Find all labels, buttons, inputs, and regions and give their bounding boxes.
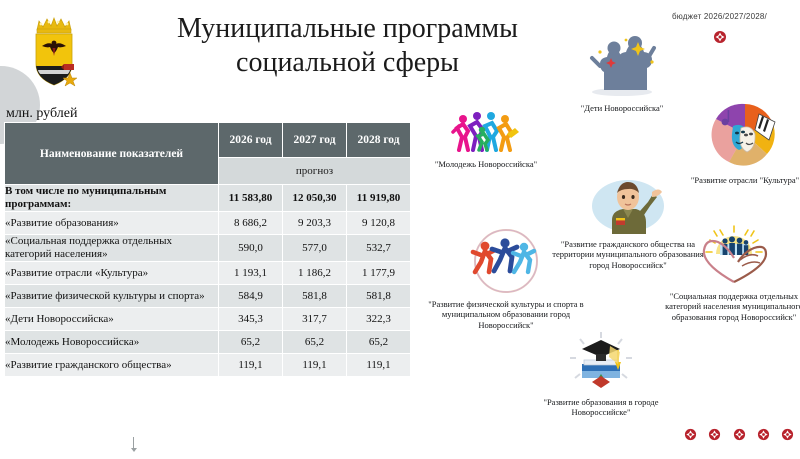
- programs-table: Наименование показателей 2026 год 2027 г…: [4, 122, 410, 377]
- col-header-2026: 2026 год: [219, 123, 283, 158]
- table-row: «Развитие образования»8 686,29 203,39 12…: [5, 212, 411, 235]
- forecast-label: прогноз: [219, 158, 411, 185]
- table-header-row: Наименование показателей 2026 год 2027 г…: [5, 123, 411, 158]
- row-value: 65,2: [283, 331, 347, 354]
- slide-canvas: Муниципальные программы социальной сферы…: [0, 0, 800, 459]
- rosette-icon: [708, 428, 721, 446]
- units-label: млн. рублей: [6, 106, 77, 122]
- info-item-youth: "Молодежь Новороссийска": [434, 104, 538, 169]
- row-value: 8 686,2: [219, 212, 283, 235]
- row-value: 577,0: [283, 235, 347, 262]
- row-label: «Развитие физической культуры и спорта»: [5, 285, 219, 308]
- row-value: 65,2: [219, 331, 283, 354]
- slide-title: Муниципальные программы социальной сферы: [120, 12, 575, 80]
- info-caption-social-support: "Социальная поддержка отдельных категори…: [660, 291, 800, 323]
- row-label: В том числе по муниципальным программам:: [5, 185, 219, 212]
- table-row: «Молодежь Новороссийска»65,265,265,2: [5, 331, 411, 354]
- row-value: 532,7: [347, 235, 411, 262]
- row-label: «Молодежь Новороссийска»: [5, 331, 219, 354]
- row-value: 11 919,80: [347, 185, 411, 212]
- children-silhouettes-icon: [548, 36, 696, 101]
- row-label: «Развитие гражданского общества»: [5, 354, 219, 377]
- table-row: «Развитие физической культуры и спорта»5…: [5, 285, 411, 308]
- row-value: 9 203,3: [283, 212, 347, 235]
- rosette-icon: [781, 428, 794, 446]
- rosette-decoration-row: [684, 428, 794, 446]
- rosette-icon: [713, 30, 727, 49]
- dancing-people-icon: [434, 104, 538, 157]
- row-value: 119,1: [347, 354, 411, 377]
- col-header-name: Наименование показателей: [5, 123, 219, 185]
- coat-of-arms-icon: [25, 12, 83, 92]
- rosette-icon: [684, 428, 697, 446]
- row-label: «Социальная поддержка отдельных категори…: [5, 235, 219, 262]
- running-people-icon: [426, 228, 586, 297]
- row-value: 65,2: [347, 331, 411, 354]
- info-item-education: "Развитие образования в городе Новоросси…: [532, 330, 670, 418]
- row-value: 317,7: [283, 308, 347, 331]
- rosette-icon: [733, 428, 746, 446]
- heart-hands-family-icon: [660, 222, 800, 289]
- col-header-2028: 2028 год: [347, 123, 411, 158]
- info-caption-youth: "Молодежь Новороссийска": [434, 159, 538, 170]
- row-value: 581,8: [347, 285, 411, 308]
- row-value: 119,1: [283, 354, 347, 377]
- row-value: 1 186,2: [283, 262, 347, 285]
- title-line-1: Муниципальные программы: [120, 12, 575, 46]
- table-row: «Социальная поддержка отдельных категори…: [5, 235, 411, 262]
- row-value: 1 177,9: [347, 262, 411, 285]
- culture-masks-icon: [690, 102, 800, 173]
- row-value: 590,0: [219, 235, 283, 262]
- table-row: «Развитие отрасли «Культура»1 193,11 186…: [5, 262, 411, 285]
- row-label: «Дети Новороссийска»: [5, 308, 219, 331]
- graduation-books-icon: [532, 330, 670, 395]
- row-label: «Развитие образования»: [5, 212, 219, 235]
- rosette-icon: [757, 428, 770, 446]
- row-value: 9 120,8: [347, 212, 411, 235]
- row-value: 584,9: [219, 285, 283, 308]
- table-row: «Дети Новороссийска»345,3317,7322,3: [5, 308, 411, 331]
- info-item-culture: "Развитие отрасли "Культура": [690, 102, 800, 185]
- info-caption-education: "Развитие образования в городе Новоросси…: [532, 397, 670, 418]
- table-body: В том числе по муниципальным программам:…: [5, 185, 411, 377]
- row-value: 322,3: [347, 308, 411, 331]
- table-row: В том числе по муниципальным программам:…: [5, 185, 411, 212]
- col-header-2027: 2027 год: [283, 123, 347, 158]
- row-value: 1 193,1: [219, 262, 283, 285]
- row-value: 12 050,30: [283, 185, 347, 212]
- row-label: «Развитие отрасли «Культура»: [5, 262, 219, 285]
- mouse-cursor: [133, 437, 134, 450]
- info-caption-sport: "Развитие физической культуры и спорта в…: [426, 299, 586, 331]
- info-caption-children: "Дети Новороссийска": [548, 103, 696, 114]
- title-line-2: социальной сферы: [120, 46, 575, 80]
- row-value: 345,3: [219, 308, 283, 331]
- table-row: «Развитие гражданского общества»119,1119…: [5, 354, 411, 377]
- info-item-social-support: "Социальная поддержка отдельных категори…: [660, 222, 800, 322]
- budget-caption: бюджет 2026/2027/2028/: [672, 12, 797, 21]
- info-item-children: "Дети Новороссийска": [548, 36, 696, 113]
- info-item-sport: "Развитие физической культуры и спорта в…: [426, 228, 586, 330]
- row-value: 119,1: [219, 354, 283, 377]
- row-value: 581,8: [283, 285, 347, 308]
- row-value: 11 583,80: [219, 185, 283, 212]
